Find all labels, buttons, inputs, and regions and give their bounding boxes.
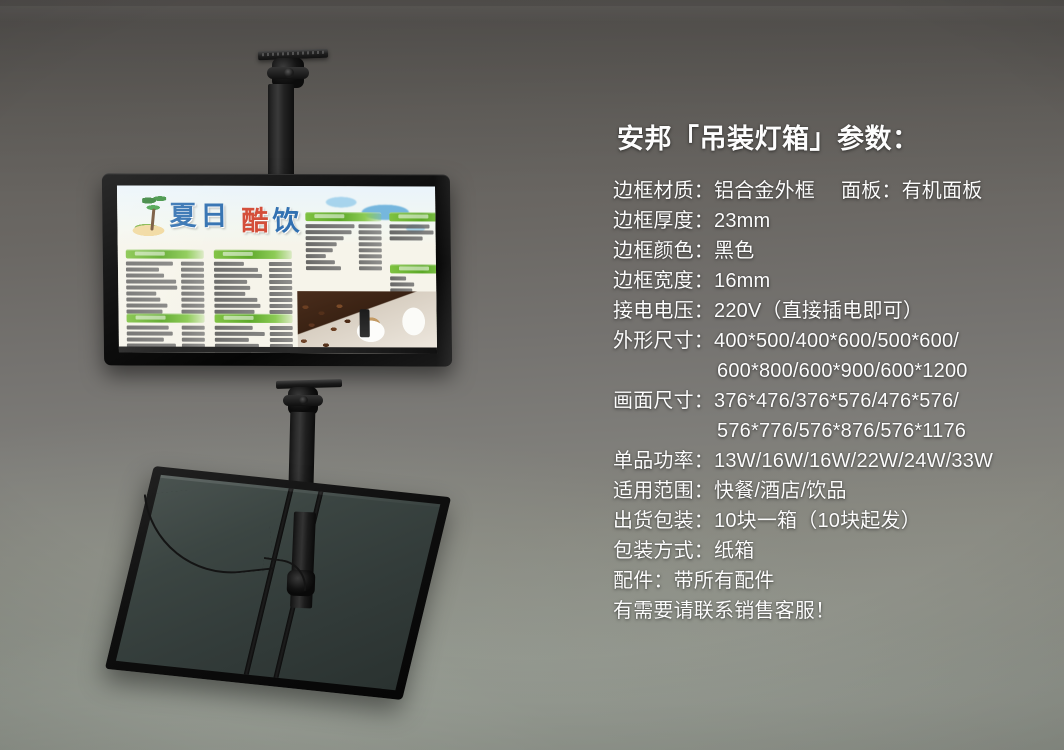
menu-item-row xyxy=(214,292,292,296)
spec-label: 画面尺寸： xyxy=(613,390,714,412)
menu-item-row xyxy=(126,273,204,277)
section-items xyxy=(214,262,293,314)
section-header-bar xyxy=(389,212,437,221)
spec-line: 配件：带所有配件 xyxy=(613,566,1043,596)
spec-label: 出货包装： xyxy=(613,510,714,532)
menu-item-row xyxy=(214,286,292,290)
section-header-bar xyxy=(126,249,204,258)
section-items xyxy=(126,261,205,313)
mount-pole-upper xyxy=(268,84,294,184)
menu-title-char-1: 夏 xyxy=(169,202,197,229)
spec-line-continuation: 600*800/600*900/600*1200 xyxy=(613,356,1043,386)
spec-value: 13W/16W/16W/22W/24W/33W xyxy=(714,450,993,472)
menu-item-row xyxy=(215,332,293,336)
menu-poster: 夏 日 酷 饮 xyxy=(117,185,437,353)
spec-label: 配件： xyxy=(613,570,674,592)
spec-value: 铝合金外框 xyxy=(714,180,815,202)
menu-item-row xyxy=(389,224,437,228)
spec-label: 适用范围： xyxy=(613,480,714,502)
menu-item-row xyxy=(214,280,292,284)
lightbox-display: 夏 日 酷 饮 xyxy=(102,173,452,366)
spec-line: 外形尺寸：400*500/400*600/500*600/ xyxy=(613,326,1043,356)
menu-item-row xyxy=(127,337,205,341)
spec-value: 纸箱 xyxy=(714,540,754,562)
spec-label: 包装方式： xyxy=(613,540,714,562)
spec-line: 画面尺寸：376*476/376*576/476*576/ xyxy=(613,386,1043,416)
menu-item-row xyxy=(390,230,438,234)
spec-value: 376*476/376*576/476*576/ xyxy=(714,390,959,412)
spec-label: 边框颜色： xyxy=(613,240,714,262)
menu-section xyxy=(390,264,437,292)
menu-item-row xyxy=(390,282,437,286)
menu-item-row xyxy=(306,236,382,240)
menu-item-row xyxy=(306,230,382,234)
menu-item-row xyxy=(306,248,382,252)
spec-value: 黑色 xyxy=(714,240,754,262)
spec-label: 边框材质： xyxy=(613,180,714,202)
spec-line: 适用范围：快餐/酒店/饮品 xyxy=(613,476,1043,506)
menu-item-row xyxy=(126,285,204,289)
spec-value: 16mm xyxy=(714,270,770,292)
spec-extra-label: 面板： xyxy=(841,180,902,202)
spec-line: 出货包装：10块一箱（10块起发） xyxy=(613,506,1043,536)
menu-item-row xyxy=(306,254,382,258)
spec-value: 23mm xyxy=(714,210,770,232)
menu-item-row xyxy=(126,297,204,301)
spec-line-continuation: 576*776/576*876/576*1176 xyxy=(613,416,1043,446)
spec-label: 边框宽度： xyxy=(613,270,714,292)
menu-item-row xyxy=(306,266,382,270)
spec-value: 带所有配件 xyxy=(674,570,775,592)
spec-line: 边框材质：铝合金外框面板：有机面板 xyxy=(613,176,1043,206)
spec-line: 边框宽度：16mm xyxy=(613,266,1043,296)
section-header-bar xyxy=(305,212,381,221)
spec-line: 边框颜色：黑色 xyxy=(613,236,1043,266)
menu-title-char-2: 日 xyxy=(200,202,228,229)
poster-footer-bar xyxy=(119,346,437,353)
menu-section xyxy=(126,249,205,313)
menu-title-char-4: 饮 xyxy=(272,207,300,234)
menu-item-row xyxy=(127,331,205,335)
spec-value: 400*500/400*600/500*600/ xyxy=(714,330,959,352)
menu-item-row xyxy=(126,291,204,295)
lightbox-screen: 夏 日 酷 饮 xyxy=(117,185,437,353)
menu-item-row xyxy=(214,268,292,272)
menu-item-row xyxy=(390,236,437,240)
spec-line: 边框厚度：23mm xyxy=(613,206,1043,236)
menu-item-row xyxy=(306,242,382,246)
spec-label: 有需要请联系销售客服！ xyxy=(613,600,835,622)
section-items xyxy=(390,276,437,292)
page-title: 安邦「吊装灯箱」参数： xyxy=(617,126,1043,153)
section-header-bar xyxy=(127,313,205,322)
section-items xyxy=(389,224,437,240)
spec-value: 快餐/酒店/饮品 xyxy=(714,480,847,502)
spec-line: 接电电压：220V（直接插电即可） xyxy=(613,296,1043,326)
menu-item-row xyxy=(214,274,292,278)
spec-value: 600*800/600*900/600*1200 xyxy=(717,360,968,382)
spec-value: 220V（直接插电即可） xyxy=(714,300,923,322)
spec-line: 单品功率：13W/16W/16W/22W/24W/33W xyxy=(613,446,1043,476)
menu-item-row xyxy=(126,303,204,307)
menu-section xyxy=(305,212,382,270)
section-header-bar xyxy=(215,314,293,323)
menu-item-row xyxy=(126,267,204,271)
menu-item-row xyxy=(127,325,205,329)
poster-header: 夏 日 酷 饮 xyxy=(117,185,436,246)
menu-item-row xyxy=(215,326,293,330)
menu-item-row xyxy=(305,224,381,228)
product-photo-scene: 夏 日 酷 饮 xyxy=(0,0,1064,750)
menu-section xyxy=(214,250,293,314)
menu-item-row xyxy=(215,338,293,342)
spec-panel: 安邦「吊装灯箱」参数： 边框材质：铝合金外框面板：有机面板边框厚度：23mm边框… xyxy=(613,126,1043,626)
section-header-bar xyxy=(390,264,437,273)
menu-item-row xyxy=(214,298,292,302)
spec-line: 有需要请联系销售客服！ xyxy=(613,596,1043,626)
spec-value: 576*776/576*876/576*1176 xyxy=(717,420,966,442)
section-header-bar xyxy=(214,250,292,259)
coffee-photo xyxy=(297,291,437,353)
spec-line: 包装方式：纸箱 xyxy=(613,536,1043,566)
spec-label: 接电电压： xyxy=(613,300,714,322)
menu-item-row xyxy=(306,260,382,264)
menu-item-row xyxy=(214,304,292,308)
spec-value: 10块一箱（10块起发） xyxy=(714,510,921,532)
section-items xyxy=(305,224,382,270)
menu-item-row xyxy=(214,262,292,266)
menu-item-row xyxy=(126,261,204,265)
spec-list: 边框材质：铝合金外框面板：有机面板边框厚度：23mm边框颜色：黑色边框宽度：16… xyxy=(613,176,1043,626)
menu-title-char-3: 酷 xyxy=(241,207,269,234)
spec-label: 边框厚度： xyxy=(613,210,714,232)
spec-extra-value: 有机面板 xyxy=(902,180,983,202)
menu-item-row xyxy=(126,279,204,283)
menu-section xyxy=(389,212,437,240)
menu-item-row xyxy=(390,276,437,280)
spec-label: 外形尺寸： xyxy=(613,330,714,352)
spec-label: 单品功率： xyxy=(613,450,714,472)
